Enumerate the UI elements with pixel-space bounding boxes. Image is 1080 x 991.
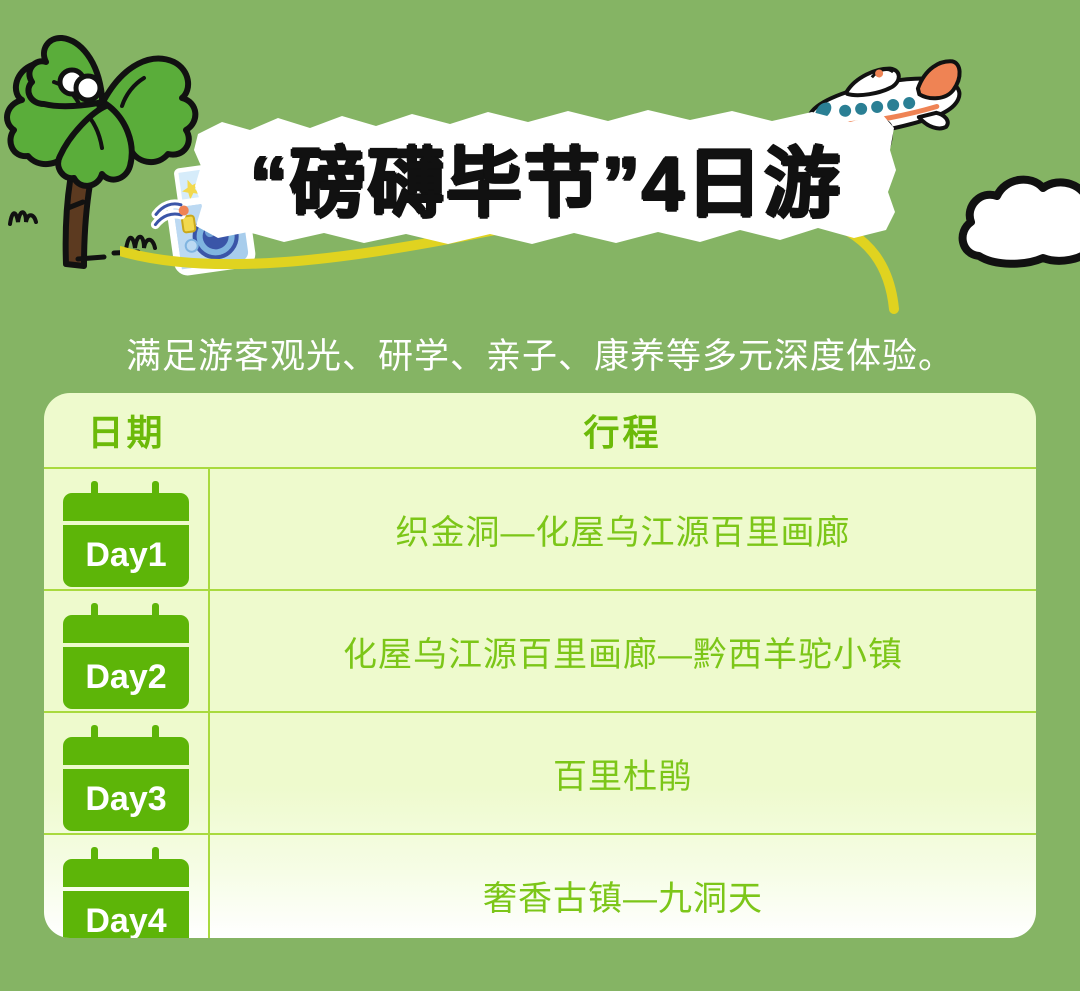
itinerary-table: 日期 行程 Day1 xyxy=(44,393,1036,938)
poster-canvas: “磅礴毕节”4日游 满足游客观光、研学、亲子、康养等多元深度体验。 日期 行程 xyxy=(0,0,1080,991)
table-header-row: 日期 行程 xyxy=(44,393,1036,468)
calendar-badge-icon: Day1 xyxy=(63,481,189,573)
table-row[interactable]: Day1 织金洞—化屋乌江源百里画廊 xyxy=(44,468,1036,590)
day-label: Day4 xyxy=(85,904,166,938)
calendar-badge-icon: Day3 xyxy=(63,725,189,817)
palm-tree-icon xyxy=(0,8,204,278)
column-header-itinerary: 行程 xyxy=(209,393,1036,468)
date-cell: Day2 xyxy=(44,590,209,712)
date-cell: Day1 xyxy=(44,468,209,590)
itinerary-cell: 百里杜鹃 xyxy=(209,712,1036,834)
itinerary-cell: 化屋乌江源百里画廊—黔西羊驼小镇 xyxy=(209,590,1036,712)
date-cell: Day4 xyxy=(44,834,209,938)
subtitle-text: 满足游客观光、研学、亲子、康养等多元深度体验。 xyxy=(0,328,1080,379)
day-label: Day1 xyxy=(85,538,166,572)
cloud-icon xyxy=(955,160,1080,285)
calendar-header xyxy=(63,615,189,643)
table-row[interactable]: Day2 化屋乌江源百里画廊—黔西羊驼小镇 xyxy=(44,590,1036,712)
date-cell: Day3 xyxy=(44,712,209,834)
calendar-badge-icon: Day4 xyxy=(63,847,189,939)
schedule-card: 日期 行程 Day1 xyxy=(44,393,1036,938)
column-header-date: 日期 xyxy=(44,393,209,468)
calendar-body: Day1 xyxy=(63,525,189,587)
table-row[interactable]: Day4 奢香古镇—九洞天 xyxy=(44,834,1036,938)
calendar-body: Day3 xyxy=(63,769,189,831)
ground-line-icon xyxy=(74,245,144,265)
day-label: Day3 xyxy=(85,782,166,816)
calendar-body: Day4 xyxy=(63,891,189,939)
itinerary-cell: 奢香古镇—九洞天 xyxy=(209,834,1036,938)
grass-doodle-icon xyxy=(120,222,165,260)
calendar-badge-icon: Day2 xyxy=(63,603,189,695)
page-title: “磅礴毕节”4日游 xyxy=(192,108,900,246)
calendar-header xyxy=(63,737,189,765)
table-row[interactable]: Day3 百里杜鹃 xyxy=(44,712,1036,834)
grass-doodle-icon xyxy=(6,200,46,235)
calendar-header xyxy=(63,493,189,521)
calendar-body: Day2 xyxy=(63,647,189,709)
calendar-header xyxy=(63,859,189,887)
itinerary-cell: 织金洞—化屋乌江源百里画廊 xyxy=(209,468,1036,590)
day-label: Day2 xyxy=(85,660,166,694)
